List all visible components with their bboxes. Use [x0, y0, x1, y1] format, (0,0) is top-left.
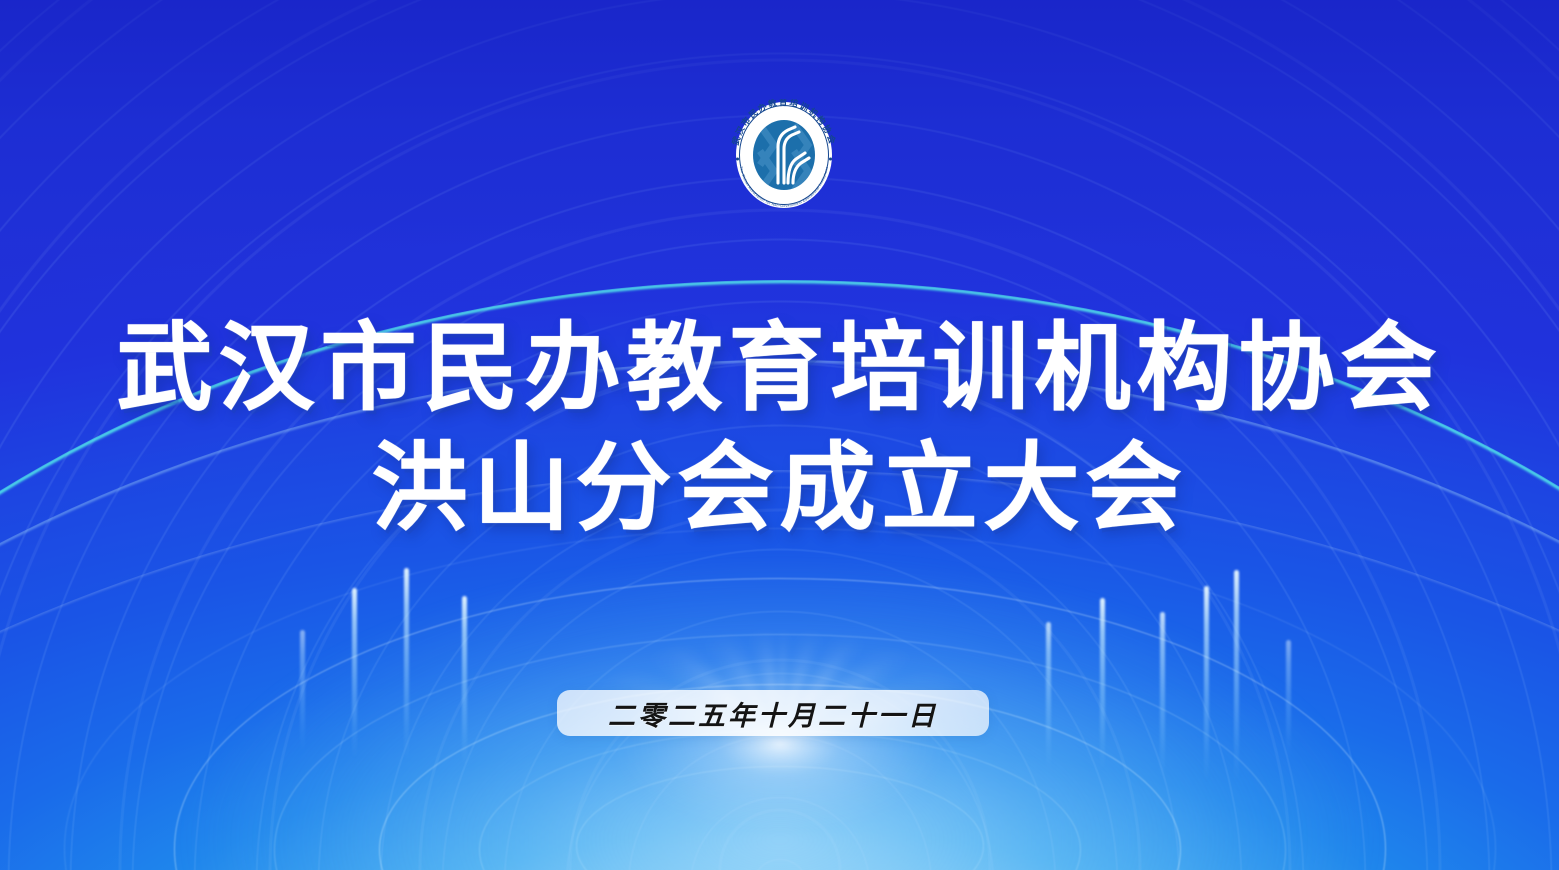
- poster-title: 武汉市民办教育培训机构协会 洪山分会成立大会: [0, 309, 1559, 549]
- event-date-text: 二零二五年十月二十一日: [608, 694, 938, 733]
- title-line-1: 武汉市民办教育培训机构协会: [0, 309, 1559, 429]
- event-poster: 武汉市民办教育培训机构协会 The Wuhan Association for …: [0, 0, 1559, 870]
- title-line-2: 洪山分会成立大会: [0, 429, 1559, 549]
- event-date-banner: 二零二五年十月二十一日: [557, 690, 989, 736]
- association-logo-icon: 武汉市民办教育培训机构协会 The Wuhan Association for …: [716, 99, 852, 211]
